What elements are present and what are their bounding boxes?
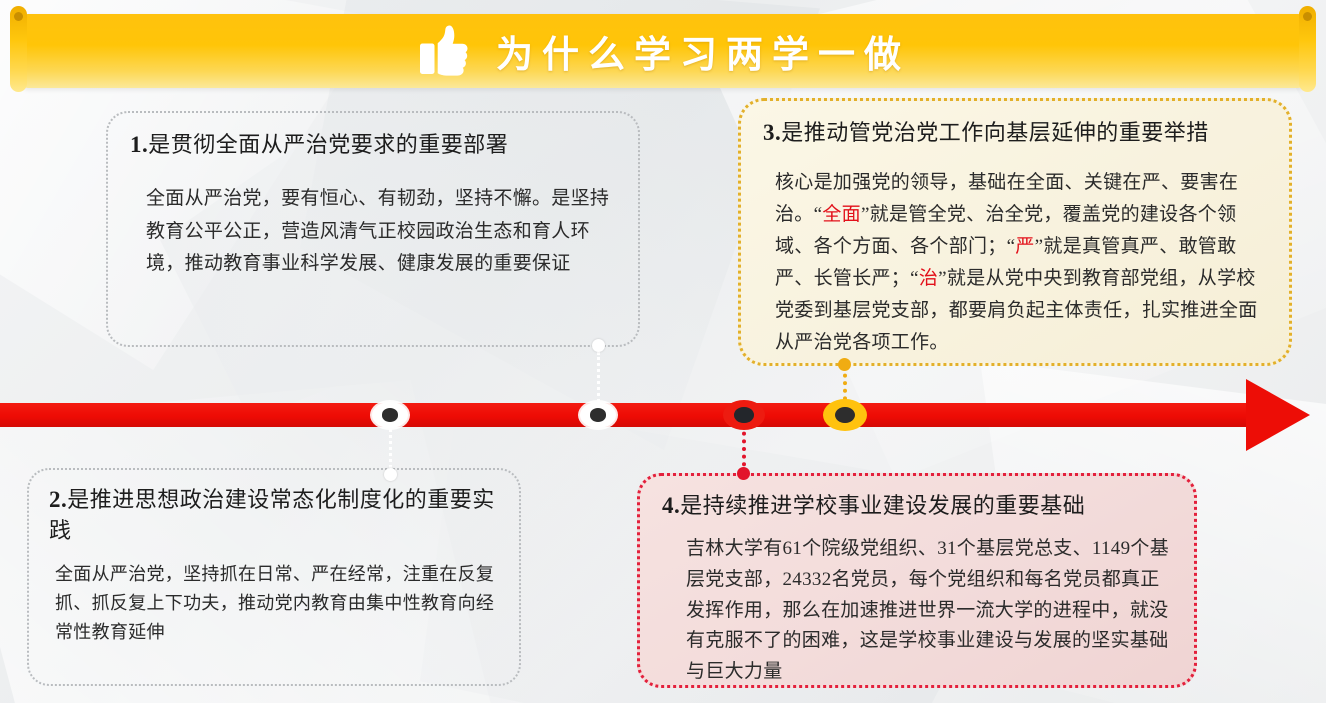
timeline-node-1-center bbox=[382, 408, 399, 422]
box-3-body: 核心是加强党的领导，基础在全面、关键在严、要害在治。“全面”就是管全党、治全党，… bbox=[763, 167, 1273, 358]
content-box-1[interactable]: 1.是贯彻全面从严治党要求的重要部署 全面从严治党，要有恒心、有韧劲，坚持不懈。… bbox=[106, 111, 640, 347]
connector-cap-box2 bbox=[384, 468, 397, 481]
timeline-node-1[interactable] bbox=[372, 402, 408, 428]
content-box-3[interactable]: 3.是推动管党治党工作向基层延伸的重要举措 核心是加强党的领导，基础在全面、关键… bbox=[738, 98, 1292, 366]
box-1-title: 1.是贯彻全面从严治党要求的重要部署 bbox=[130, 127, 618, 159]
box-3-title-text: 是推动管党治党工作向基层延伸的重要举措 bbox=[781, 120, 1209, 145]
connector-cap-box3 bbox=[838, 358, 851, 371]
box-1-title-text: 是贯彻全面从严治党要求的重要部署 bbox=[148, 132, 508, 157]
connector-cap-box1 bbox=[592, 339, 605, 352]
timeline-arrow-icon bbox=[1246, 379, 1310, 451]
timeline-node-3-center bbox=[734, 407, 753, 423]
timeline-node-4[interactable] bbox=[823, 399, 867, 431]
content-box-4[interactable]: 4.是持续推进学校事业建设发展的重要基础 吉林大学有61个院级党组织、31个基层… bbox=[637, 473, 1197, 688]
box-2-title-text: 是推进思想政治建设常态化制度化的重要实践 bbox=[49, 487, 495, 543]
timeline-node-2[interactable] bbox=[580, 402, 616, 428]
page-title: 为什么学习两学一做 bbox=[496, 24, 910, 78]
infographic-canvas: 为什么学习两学一做 1.是贯彻全面从严治党要求的重要部署 全面从严治党，要有恒心… bbox=[0, 0, 1326, 703]
banner-right-tab-dot bbox=[1303, 12, 1312, 21]
box-4-title: 4.是持续推进学校事业建设发展的重要基础 bbox=[662, 488, 1178, 520]
banner-right-tab bbox=[1299, 6, 1316, 92]
timeline-node-2-center bbox=[590, 408, 607, 422]
connector-node1-box2 bbox=[389, 424, 392, 474]
timeline-bar bbox=[0, 403, 1258, 427]
timeline-node-4-center bbox=[835, 407, 855, 424]
connector-cap-box4 bbox=[737, 467, 750, 480]
timeline-node-3[interactable] bbox=[723, 400, 765, 430]
header-banner: 为什么学习两学一做 bbox=[22, 14, 1304, 88]
box-2-body: 全面从严治党，坚持抓在日常、严在经常，注重在反复抓、抓反复上下功夫，推动党内教育… bbox=[49, 560, 501, 647]
banner-left-tab bbox=[10, 6, 27, 92]
box-4-number: 4. bbox=[662, 493, 680, 518]
box-3-number: 3. bbox=[763, 120, 781, 145]
box-4-title-text: 是持续推进学校事业建设发展的重要基础 bbox=[680, 493, 1085, 518]
box-3-highlight-quanmian: 全面 bbox=[822, 204, 861, 225]
box-3-highlight-zhi: 治 bbox=[919, 268, 938, 289]
connector-node2-box1 bbox=[597, 352, 600, 408]
box-3-title: 3.是推动管党治党工作向基层延伸的重要举措 bbox=[763, 115, 1273, 147]
box-1-body: 全面从严治党，要有恒心、有韧劲，坚持不懈。是坚持教育公平公正，营造风清气正校园政… bbox=[130, 183, 618, 281]
box-2-number: 2. bbox=[49, 487, 67, 512]
thumbs-up-icon bbox=[416, 23, 474, 79]
content-box-2[interactable]: 2.是推进思想政治建设常态化制度化的重要实践 全面从严治党，坚持抓在日常、严在经… bbox=[27, 468, 521, 686]
banner-left-tab-dot bbox=[14, 12, 23, 21]
box-2-title: 2.是推进思想政治建设常态化制度化的重要实践 bbox=[49, 484, 501, 546]
box-1-number: 1. bbox=[130, 132, 148, 157]
box-3-highlight-yan: 严 bbox=[1015, 236, 1034, 257]
box-4-body: 吉林大学有61个院级党组织、31个基层党总支、1149个基层党支部，24332名… bbox=[662, 534, 1178, 688]
